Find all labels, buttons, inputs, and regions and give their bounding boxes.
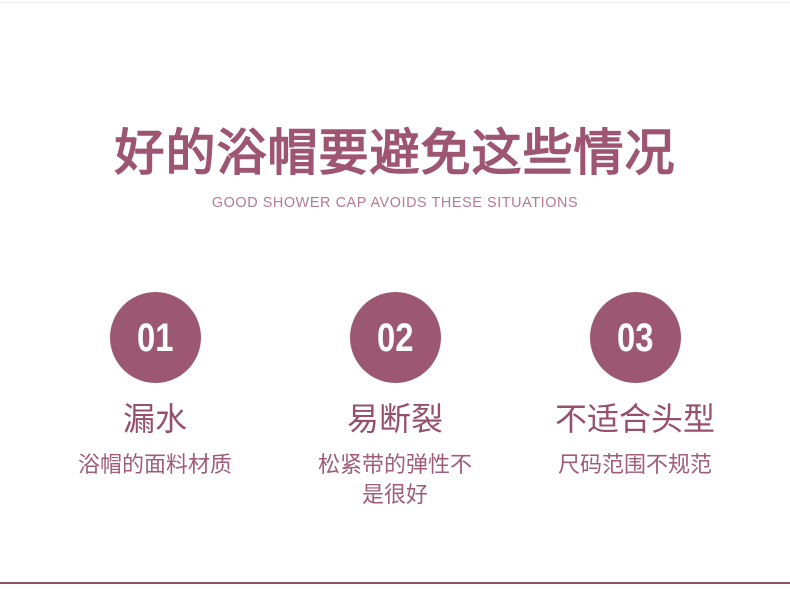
step-number-badge: 01 — [110, 292, 201, 383]
feature-item-title: 漏水 — [123, 400, 187, 438]
step-number-label: 01 — [137, 318, 173, 358]
page-subtitle: GOOD SHOWER CAP AVOIDS THESE SITUATIONS — [16, 194, 774, 212]
page-title: 好的浴帽要避免这些情况 — [0, 124, 790, 182]
feature-item-description: 松紧带的弹性不是很好 — [310, 450, 480, 510]
step-number-badge: 03 — [590, 292, 681, 383]
feature-item: 03 不适合头型 尺码范围不规范 — [530, 292, 740, 480]
feature-items-row: 01 漏水 浴帽的面料材质 02 易断裂 松紧带的弹性不是很好 03 不适合头型… — [50, 292, 740, 510]
feature-item-description: 浴帽的面料材质 — [78, 450, 232, 480]
bottom-accent-divider — [0, 582, 790, 584]
step-number-badge: 02 — [350, 292, 441, 383]
feature-item-title: 易断裂 — [347, 400, 443, 438]
header-block: 好的浴帽要避免这些情况 GOOD SHOWER CAP AVOIDS THESE… — [0, 124, 790, 212]
feature-item-title: 不适合头型 — [555, 400, 715, 438]
top-hairline-divider — [0, 2, 790, 3]
feature-item: 01 漏水 浴帽的面料材质 — [50, 292, 260, 480]
feature-item: 02 易断裂 松紧带的弹性不是很好 — [290, 292, 500, 510]
step-number-label: 02 — [377, 318, 413, 358]
feature-item-description: 尺码范围不规范 — [558, 450, 712, 480]
promo-page: 好的浴帽要避免这些情况 GOOD SHOWER CAP AVOIDS THESE… — [0, 0, 790, 589]
step-number-label: 03 — [617, 318, 653, 358]
